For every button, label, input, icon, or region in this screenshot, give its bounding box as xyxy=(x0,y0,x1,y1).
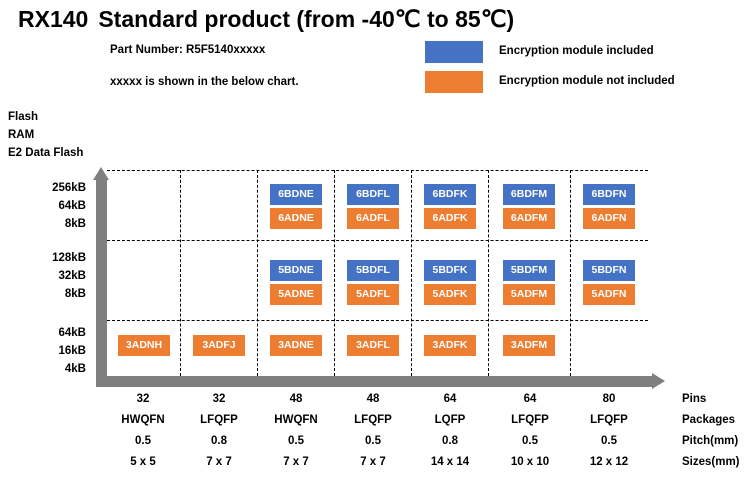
legend-label-encryption-included: Encryption module included xyxy=(499,45,654,57)
xaxis-size-0: 5 x 5 xyxy=(108,456,178,468)
chip-r1-c2-orange[interactable]: 5ADNE xyxy=(270,284,322,305)
xaxis-size-2: 7 x 7 xyxy=(261,456,331,468)
chart-column-3: 6BDFL 6ADFL 5BDFL 5ADFL 3ADFL xyxy=(334,170,411,376)
xaxis-size-6: 12 x 12 xyxy=(574,456,644,468)
chip-r0-c4-orange[interactable]: 6ADFK xyxy=(424,208,476,229)
slide-root: RX140Standard product (from -40℃ to 85℃)… xyxy=(0,0,754,478)
legend-swatch-encryption-included xyxy=(425,41,483,63)
legend-swatch-encryption-not-included xyxy=(425,71,483,93)
chart-column-6: 6BDFN 6ADFN 5BDFN 5ADFN xyxy=(570,170,648,376)
xaxis-package-2: HWQFN xyxy=(261,414,331,426)
xaxis-pins-5: 64 xyxy=(495,393,565,405)
chart-column-0: 3ADNH xyxy=(107,170,180,376)
chip-r2-c0[interactable]: 3ADNH xyxy=(118,335,170,356)
yaxis-label-b1-0: 128kB xyxy=(6,252,86,264)
title-text: Standard product (from -40℃ to 85℃) xyxy=(98,6,514,32)
xaxis-pitch-1: 0.8 xyxy=(184,435,254,447)
xaxis-pitch-6: 0.5 xyxy=(574,435,644,447)
yaxis-label-b1-2: 8kB xyxy=(6,288,86,300)
chip-r0-c6-orange[interactable]: 6ADFN xyxy=(583,208,635,229)
chip-r0-c4-blue[interactable]: 6BDFK xyxy=(424,184,476,205)
yaxis-label-b0-2: 8kB xyxy=(6,218,86,230)
chip-r2-c2[interactable]: 3ADNE xyxy=(270,335,322,356)
legend-label-encryption-not-included: Encryption module not included xyxy=(499,75,675,87)
xaxis-pitch-3: 0.5 xyxy=(338,435,408,447)
yaxis-header-ram: RAM xyxy=(8,129,34,141)
chart-column-1: 3ADFJ xyxy=(180,170,257,376)
yaxis-label-b2-1: 16kB xyxy=(6,345,86,357)
chip-r0-c6-blue[interactable]: 6BDFN xyxy=(583,184,635,205)
yaxis-label-b0-0: 256kB xyxy=(6,182,86,194)
chip-r1-c2-blue[interactable]: 5BDNE xyxy=(270,260,322,281)
chip-r1-c6-orange[interactable]: 5ADFN xyxy=(583,284,635,305)
yaxis-label-b2-2: 4kB xyxy=(6,363,86,375)
chip-r1-c3-blue[interactable]: 5BDFL xyxy=(347,260,399,281)
yaxis-label-b1-1: 32kB xyxy=(6,270,86,282)
chart-column-4: 6BDFK 6ADFK 5BDFK 5ADFK 3ADFK xyxy=(411,170,488,376)
yaxis-header-e2-data-flash: E2 Data Flash xyxy=(8,147,83,159)
title-model: RX140 xyxy=(18,6,88,32)
xaxis-package-3: LFQFP xyxy=(338,414,408,426)
chip-r0-c5-orange[interactable]: 6ADFM xyxy=(503,208,555,229)
chip-r0-c3-orange[interactable]: 6ADFL xyxy=(347,208,399,229)
xaxis-package-0: HWQFN xyxy=(108,414,178,426)
xaxis-size-5: 10 x 10 xyxy=(495,456,565,468)
vertical-axis-shaft xyxy=(96,178,107,382)
chip-r1-c5-blue[interactable]: 5BDFM xyxy=(503,260,555,281)
chip-r2-c1[interactable]: 3ADFJ xyxy=(193,335,245,356)
chart-column-5: 6BDFM 6ADFM 5BDFM 5ADFM 3ADFM xyxy=(488,170,570,376)
chip-r0-c5-blue[interactable]: 6BDFM xyxy=(503,184,555,205)
part-number-note: xxxxx is shown in the below chart. xyxy=(110,76,299,88)
xaxis-package-5: LFQFP xyxy=(495,414,565,426)
chip-r2-c4[interactable]: 3ADFK xyxy=(424,335,476,356)
xaxis-size-1: 7 x 7 xyxy=(184,456,254,468)
xaxis-package-6: LFQFP xyxy=(574,414,644,426)
xaxis-rowname-pitch: Pitch(mm) xyxy=(682,435,738,447)
part-number-text: Part Number: R5F5140xxxxx xyxy=(110,44,265,56)
xaxis-pins-3: 48 xyxy=(338,393,408,405)
chart-grid: 3ADNH 3ADFJ 6BDNE 6ADNE 5BDNE 5ADNE 3ADN… xyxy=(107,170,648,376)
xaxis-package-1: LFQFP xyxy=(184,414,254,426)
xaxis-rowname-sizes: Sizes(mm) xyxy=(682,456,740,468)
horizontal-axis-arrow-icon xyxy=(652,373,665,389)
horizontal-axis-shaft xyxy=(96,376,653,387)
xaxis-pins-2: 48 xyxy=(261,393,331,405)
yaxis-header-flash: Flash xyxy=(8,111,38,123)
chip-r0-c2-blue[interactable]: 6BDNE xyxy=(270,184,322,205)
xaxis-pitch-0: 0.5 xyxy=(108,435,178,447)
chip-r1-c5-orange[interactable]: 5ADFM xyxy=(503,284,555,305)
xaxis-rowname-pins: Pins xyxy=(682,393,706,405)
xaxis-pitch-4: 0.8 xyxy=(415,435,485,447)
xaxis-pins-1: 32 xyxy=(184,393,254,405)
xaxis-size-3: 7 x 7 xyxy=(338,456,408,468)
xaxis-package-4: LQFP xyxy=(415,414,485,426)
chip-r1-c4-orange[interactable]: 5ADFK xyxy=(424,284,476,305)
xaxis-pins-4: 64 xyxy=(415,393,485,405)
page-title: RX140Standard product (from -40℃ to 85℃) xyxy=(18,6,514,33)
chip-r1-c6-blue[interactable]: 5BDFN xyxy=(583,260,635,281)
chip-r2-c3[interactable]: 3ADFL xyxy=(347,335,399,356)
xaxis-rowname-packages: Packages xyxy=(682,414,735,426)
xaxis-pins-6: 80 xyxy=(574,393,644,405)
xaxis-size-4: 14 x 14 xyxy=(415,456,485,468)
chip-r2-c5[interactable]: 3ADFM xyxy=(503,335,555,356)
chip-r1-c3-orange[interactable]: 5ADFL xyxy=(347,284,399,305)
xaxis-pitch-2: 0.5 xyxy=(261,435,331,447)
chart-column-2: 6BDNE 6ADNE 5BDNE 5ADNE 3ADNE xyxy=(257,170,334,376)
xaxis-pitch-5: 0.5 xyxy=(495,435,565,447)
xaxis-pins-0: 32 xyxy=(108,393,178,405)
yaxis-label-b0-1: 64kB xyxy=(6,200,86,212)
chip-r0-c3-blue[interactable]: 6BDFL xyxy=(347,184,399,205)
chip-r1-c4-blue[interactable]: 5BDFK xyxy=(424,260,476,281)
chip-r0-c2-orange[interactable]: 6ADNE xyxy=(270,208,322,229)
yaxis-label-b2-0: 64kB xyxy=(6,327,86,339)
